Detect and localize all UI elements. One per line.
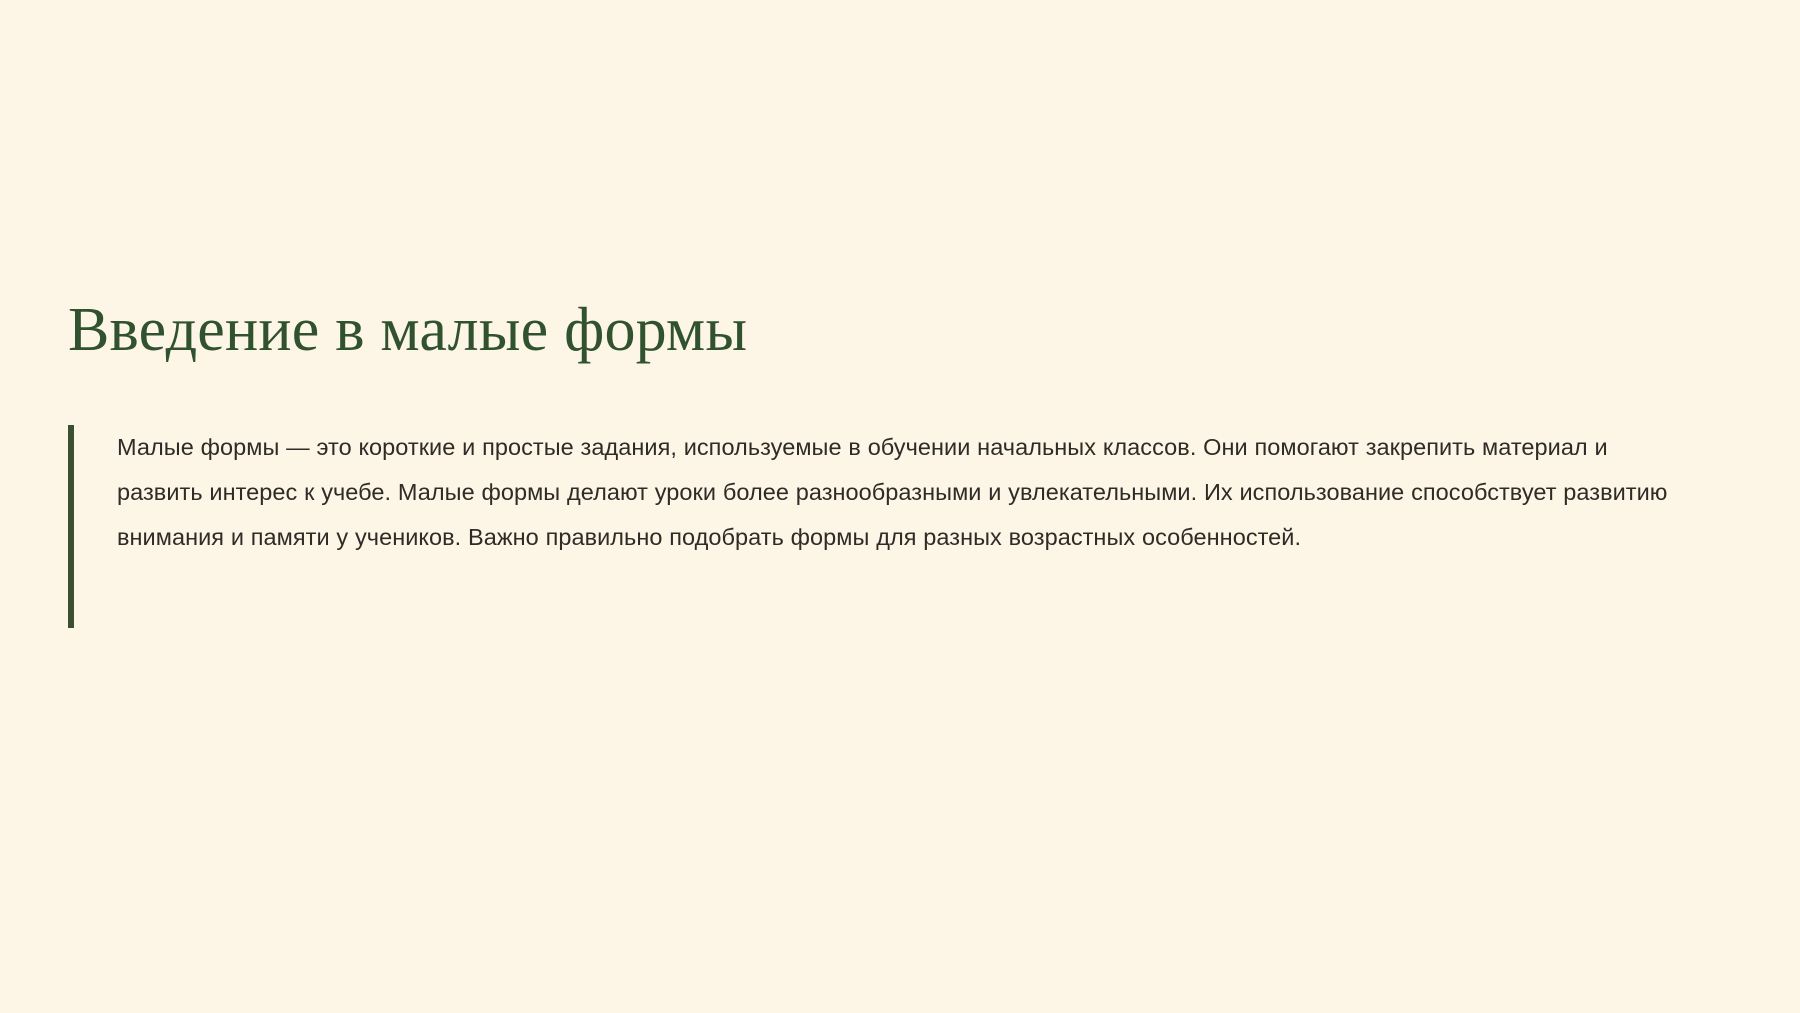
content-block: Введение в малые формы Малые формы — это… — [68, 296, 1732, 560]
slide-canvas: Введение в малые формы Малые формы — это… — [0, 0, 1800, 1013]
quote-block: Малые формы — это короткие и простые зад… — [68, 425, 1683, 560]
body-paragraph: Малые формы — это короткие и простые зад… — [117, 425, 1683, 560]
quote-accent-bar — [68, 425, 74, 628]
page-title: Введение в малые формы — [68, 296, 1732, 365]
